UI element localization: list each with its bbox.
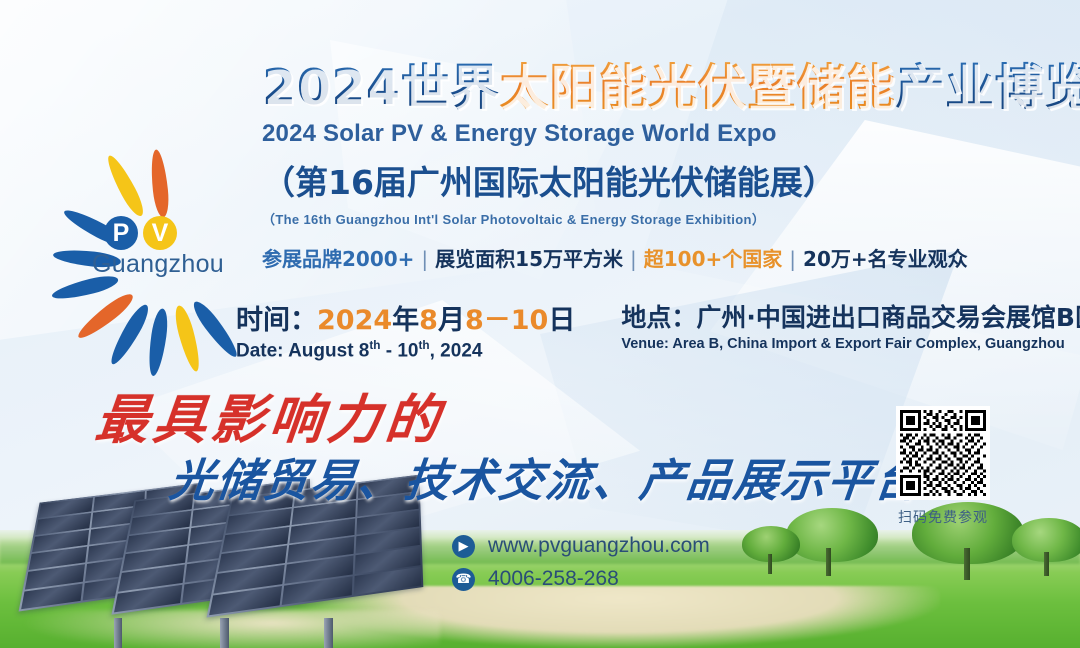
event-venue-chinese: 地点：广州·中国进出口商品交易会展馆B区 [621,298,1080,334]
event-info-row: 时间：2024年8月8－10日 Date: August 8th - 10th,… [236,298,1080,362]
date-year: 2024 [317,305,392,336]
stat-separator: | [623,247,644,271]
phone-icon: ☎ [452,568,475,591]
event-venue-block: 地点：广州·中国进出口商品交易会展馆B区 Venue: Area B, Chin… [621,298,1080,352]
date-month: 8 [419,305,438,336]
date-label: 时间： [236,305,317,336]
stat-separator: | [414,247,435,271]
event-date-english: Date: August 8th - 10th, 2024 [236,339,575,362]
logo-letter-v: V [143,216,177,250]
date-en-sup2: th [419,339,430,352]
qr-code-graphic [900,410,986,496]
title-segment-1: 2024世界 [262,59,499,116]
phone-number[interactable]: 4006-258-268 [488,567,619,591]
slogan-line-1: 最具影响力的 [92,378,448,454]
date-en-mid: - 10 [380,340,418,361]
qr-block: 扫码免费参观 [896,406,990,527]
stat-countries: 超100+个国家 [644,247,783,271]
logo-pv-lettermark: P V [104,216,177,250]
exhibition-poster: P V Guangzhou 2024世界太阳能光伏暨储能产业博览会 2024 S… [0,0,1080,648]
title-main: 2024世界太阳能光伏暨储能产业博览会 [262,62,1052,114]
title-english: 2024 Solar PV & Energy Storage World Exp… [262,120,1052,148]
panel-post-1 [114,618,122,648]
subtitle-chinese: （第16届广州国际太阳能光伏储能展） [262,156,1052,204]
date-year-unit: 年 [392,305,419,336]
panel-post-3 [324,618,333,648]
panel-post-2 [220,618,229,648]
headline-block: 2024世界太阳能光伏暨储能产业博览会 2024 Solar PV & Ener… [262,62,1052,272]
event-date-block: 时间：2024年8月8－10日 Date: August 8th - 10th,… [236,298,575,362]
logo-petal [146,308,170,377]
stat-separator: | [782,247,803,271]
website-url[interactable]: www.pvguangzhou.com [488,534,710,558]
qr-code[interactable] [896,406,990,500]
event-venue-english: Venue: Area B, China Import & Export Fai… [621,336,1080,352]
date-en-suffix: , 2024 [430,340,483,361]
logo-city-label: Guangzhou [92,250,224,279]
date-days: 8－10 [465,305,548,336]
stat-exhibition-area: 展览面积15万平方米 [435,247,623,271]
logo-petal [103,152,148,219]
stat-exhibiting-brands: 参展品牌2000+ [262,247,414,271]
date-month-unit: 月 [438,305,465,336]
slogan-line-2: 光储贸易、技术交流、产品展示平台！ [167,444,973,509]
contact-block: ▶ www.pvguangzhou.com ☎ 4006-258-268 [452,534,710,600]
date-day-unit: 日 [548,305,575,336]
stat-visitors: 20万+名专业观众 [803,247,968,271]
tree-far-left [742,526,800,572]
subtitle-english: （The 16th Guangzhou Int'l Solar Photovol… [262,209,1052,228]
logo-letter-p: P [104,216,138,250]
date-en-prefix: Date: August 8 [236,340,369,361]
title-segment-2: 太阳能光伏暨储能 [499,59,895,116]
qr-caption: 扫码免费参观 [896,507,990,527]
tree-right [1012,518,1080,574]
phone-row[interactable]: ☎ 4006-258-268 [452,567,710,591]
title-segment-3: 产业博览会 [895,59,1080,116]
pv-guangzhou-logo: P V Guangzhou [56,104,266,294]
website-row[interactable]: ▶ www.pvguangzhou.com [452,534,710,558]
event-date-chinese: 时间：2024年8月8－10日 [236,298,575,337]
logo-petal [149,149,171,218]
statistics-row: 参展品牌2000+|展览面积15万平方米|超100+个国家|20万+名专业观众 [262,243,1052,272]
play-arrow-icon: ▶ [452,535,475,558]
date-en-sup1: th [369,339,380,352]
